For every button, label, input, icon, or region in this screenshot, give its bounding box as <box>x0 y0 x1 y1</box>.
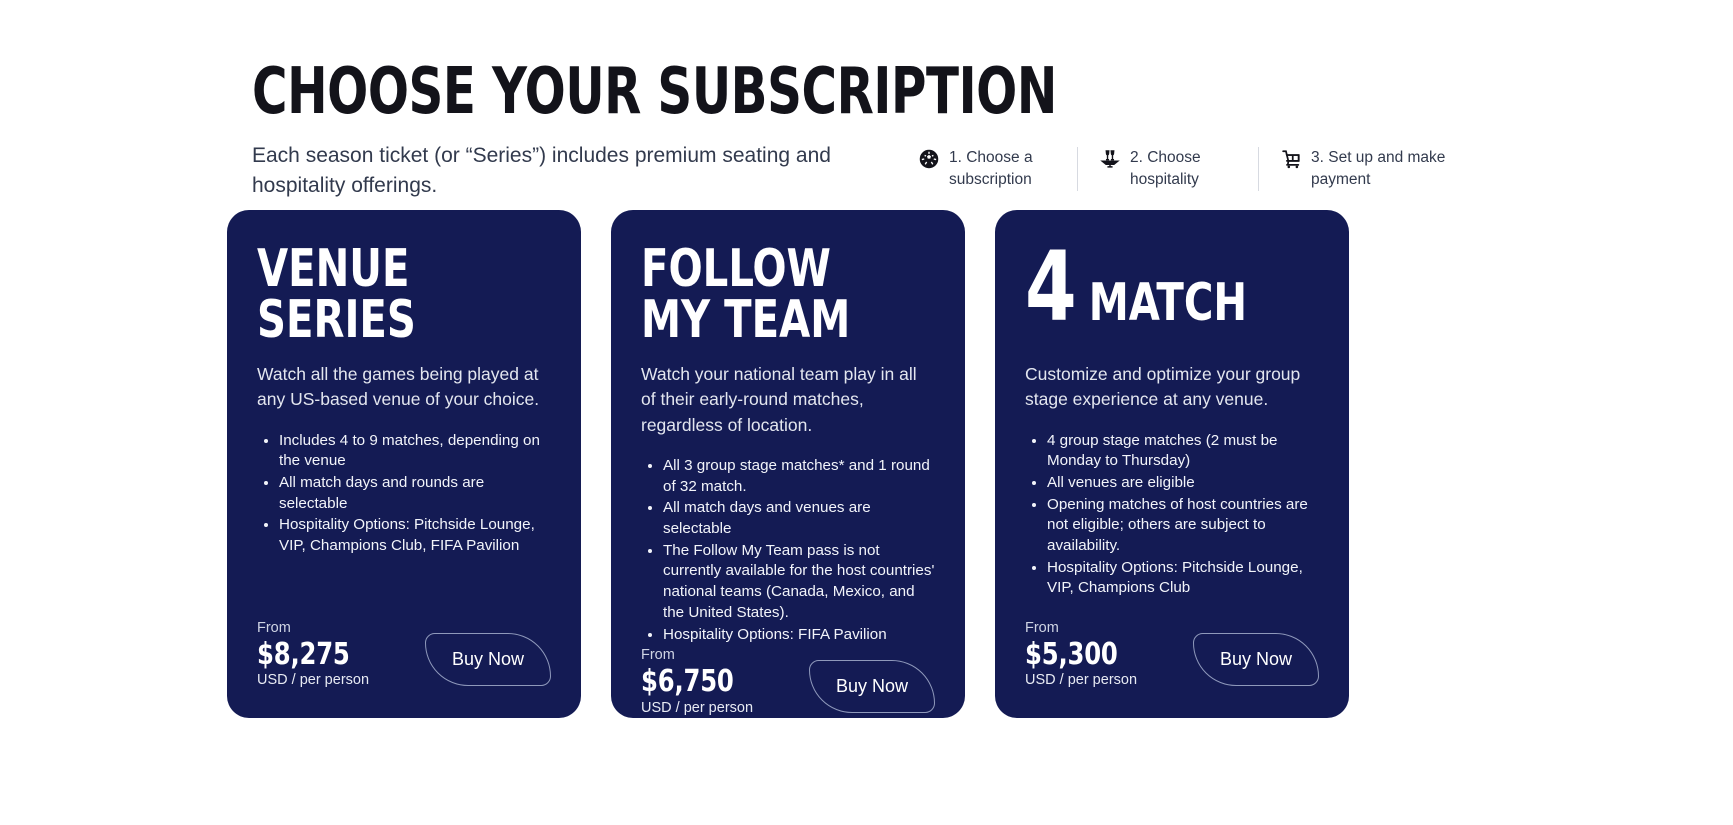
price-block: From $8,275 USD / per person <box>257 619 369 692</box>
price-from-label: From <box>641 646 753 665</box>
card-description: Watch all the games being played at any … <box>257 362 551 413</box>
list-item: Hospitality Options: FIFA Pavilion <box>663 625 935 646</box>
list-item: All 3 group stage matches* and 1 round o… <box>663 456 935 497</box>
page-title: CHOOSE YOUR SUBSCRIPTION <box>252 62 1301 123</box>
step-label: 1. Choose a subscription <box>949 147 1057 190</box>
price-unit: USD / per person <box>641 699 753 718</box>
champagne-tray-icon <box>1099 148 1121 170</box>
card-title: VENUE SERIES <box>257 244 510 356</box>
subscription-cards: VENUE SERIES Watch all the games being p… <box>227 210 1349 718</box>
list-item: Includes 4 to 9 matches, depending on th… <box>279 431 551 472</box>
subheader-row: Each season ticket (or “Series”) include… <box>252 141 1501 201</box>
list-item: Hospitality Options: Pitchside Lounge, V… <box>1047 558 1319 599</box>
price-amount: $5,300 <box>1025 638 1126 672</box>
card-feature-list: 4 group stage matches (2 must be Monday … <box>1025 431 1319 600</box>
card-description: Watch your national team play in all of … <box>641 362 935 438</box>
price-amount: $6,750 <box>641 665 742 699</box>
card-feature-list: Includes 4 to 9 matches, depending on th… <box>257 431 551 558</box>
price-from-label: From <box>257 619 369 638</box>
page-header: CHOOSE YOUR SUBSCRIPTION Each season tic… <box>252 62 1501 201</box>
list-item: 4 group stage matches (2 must be Monday … <box>1047 431 1319 472</box>
buy-now-button[interactable]: Buy Now <box>1193 633 1319 686</box>
soccer-ball-icon <box>918 148 940 170</box>
price-block: From $6,750 USD / per person <box>641 646 753 719</box>
card-title-word: MATCH <box>1089 278 1247 329</box>
list-item: Opening matches of host countries are no… <box>1047 495 1319 557</box>
list-item: All match days and venues are selectable <box>663 498 935 539</box>
card-follow-my-team[interactable]: FOLLOW MY TEAM Watch your national team … <box>611 210 965 718</box>
card-venue-series[interactable]: VENUE SERIES Watch all the games being p… <box>227 210 581 718</box>
step-choose-hospitality[interactable]: 2. Choose hospitality <box>1077 147 1258 193</box>
list-item: The Follow My Team pass is not currently… <box>663 541 935 624</box>
card-feature-list: All 3 group stage matches* and 1 round o… <box>641 456 935 646</box>
price-unit: USD / per person <box>1025 671 1137 690</box>
buy-now-button[interactable]: Buy Now <box>425 633 551 686</box>
card-title: 4 MATCH <box>1025 244 1278 356</box>
list-item: All match days and rounds are selectable <box>279 473 551 514</box>
step-choose-subscription[interactable]: 1. Choose a subscription <box>896 147 1077 193</box>
card-4-match[interactable]: 4 MATCH Customize and optimize your grou… <box>995 210 1349 718</box>
step-label: 3. Set up and make payment <box>1311 147 1451 190</box>
price-block: From $5,300 USD / per person <box>1025 619 1137 692</box>
card-title: FOLLOW MY TEAM <box>641 244 894 356</box>
list-item: Hospitality Options: Pitchside Lounge, V… <box>279 515 551 556</box>
card-footer: From $5,300 USD / per person Buy Now <box>1025 619 1319 692</box>
step-indicator: 1. Choose a subscription 2. Choose hospi… <box>896 141 1471 193</box>
price-unit: USD / per person <box>257 671 369 690</box>
shopping-cart-icon <box>1280 148 1302 170</box>
step-label: 2. Choose hospitality <box>1130 147 1238 190</box>
card-footer: From $6,750 USD / per person Buy Now <box>641 646 935 719</box>
card-footer: From $8,275 USD / per person Buy Now <box>257 619 551 692</box>
step-setup-payment[interactable]: 3. Set up and make payment <box>1258 147 1471 193</box>
buy-now-button[interactable]: Buy Now <box>809 660 935 713</box>
list-item: All venues are eligible <box>1047 473 1319 494</box>
page-subtitle: Each season ticket (or “Series”) include… <box>252 141 892 201</box>
price-amount: $8,275 <box>257 638 358 672</box>
subscription-page: CHOOSE YOUR SUBSCRIPTION Each season tic… <box>0 0 1733 825</box>
price-from-label: From <box>1025 619 1137 638</box>
card-title-number: 4 <box>1025 244 1077 330</box>
card-description: Customize and optimize your group stage … <box>1025 362 1319 413</box>
